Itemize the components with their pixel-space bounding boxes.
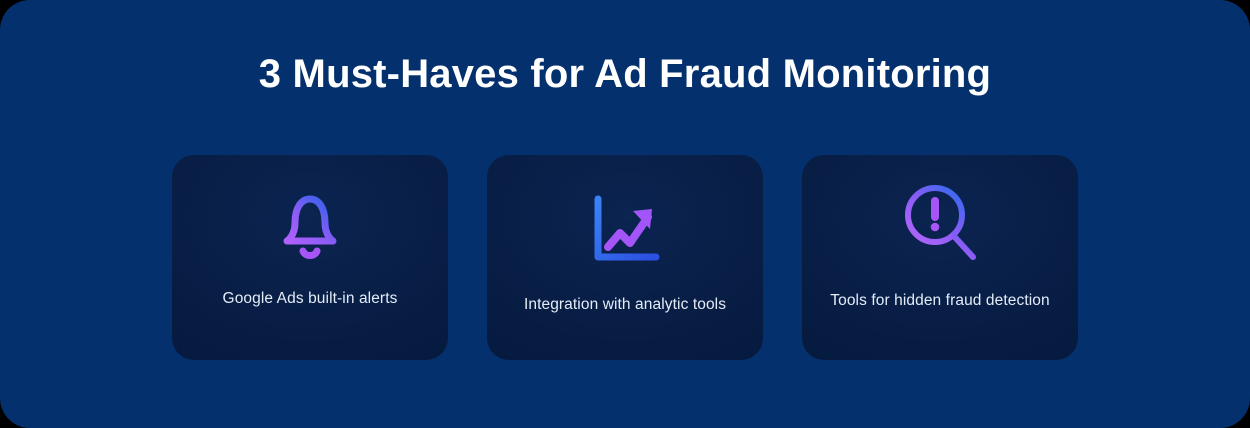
feature-card-analytics-integration[interactable]: Integration with analytic tools [487, 155, 763, 360]
feature-card-fraud-detection[interactable]: Tools for hidden fraud detection [802, 155, 1078, 360]
feature-card-google-ads-alerts[interactable]: Google Ads built-in alerts [172, 155, 448, 360]
bell-icon [267, 181, 353, 272]
feature-card-label: Integration with analytic tools [510, 294, 740, 315]
page-title: 3 Must-Haves for Ad Fraud Monitoring [0, 48, 1250, 100]
magnifier-alert-icon [895, 179, 985, 274]
feature-card-label: Tools for hidden fraud detection [825, 290, 1055, 311]
feature-card-label: Google Ads built-in alerts [195, 288, 425, 309]
chart-trending-up-icon [586, 191, 664, 274]
feature-card-list: Google Ads built-in alerts [172, 155, 1078, 360]
infographic-panel: 3 Must-Haves for Ad Fraud Monitoring [0, 0, 1250, 428]
